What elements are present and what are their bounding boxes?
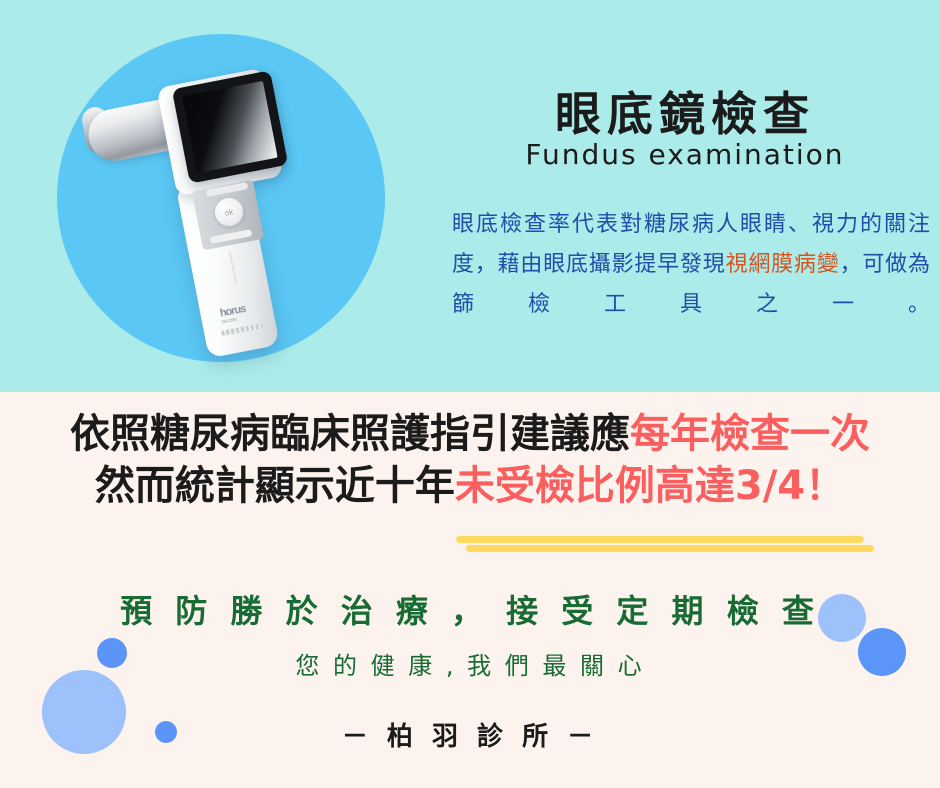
statement-zone: 依照糖尿病臨床照護指引建議應每年檢查一次 然而統計顯示近十年未受檢比例高達3/4… [0, 408, 940, 512]
highlight-underline-lower [466, 545, 874, 552]
page-title-chinese: 眼底鏡檢查 [430, 78, 940, 144]
slogan-zone: 預 防 勝 於 治 療 ， 接 受 定 期 檢 查 您 的 健 康 , 我 們 … [0, 586, 940, 681]
poster-root: ok horus DEC200 眼底鏡檢查 Fundus examination… [0, 0, 940, 788]
slogan-secondary: 您 的 健 康 , 我 們 最 關 心 [0, 646, 940, 681]
fundus-camera-device: ok horus DEC200 [80, 55, 370, 355]
statement-line-1: 依照糖尿病臨床照護指引建議應每年檢查一次 [0, 408, 940, 460]
device-photo-zone: ok horus DEC200 [0, 0, 440, 392]
description-highlight: 視網膜病變 [726, 252, 840, 277]
device-ok-button-label: ok [211, 194, 246, 229]
slogan-primary: 預 防 勝 於 治 療 ， 接 受 定 期 檢 查 [0, 586, 940, 632]
statement-line1-emphasis: 每年檢查一次 [630, 411, 870, 457]
highlight-underline-upper [456, 536, 864, 543]
clinic-name: － 柏 羽 診 所 － [0, 716, 940, 753]
statement-line-2: 然而統計顯示近十年未受檢比例高達3/4！ [0, 460, 940, 512]
device-ok-button: ok [211, 194, 246, 229]
header-zone: 眼底鏡檢查 Fundus examination 眼底檢查率代表對糖尿病人眼睛、… [430, 0, 940, 392]
page-title-english: Fundus examination [430, 138, 940, 171]
description-paragraph: 眼底檢查率代表對糖尿病人眼睛、視力的關注度，藉由眼底攝影提早發現視網膜病變，可做… [452, 205, 930, 325]
statement-line2-emphasis: 未受檢比例高達3/4！ [455, 463, 845, 509]
device-screen-bezel [172, 70, 288, 183]
statement-line1-plain: 依照糖尿病臨床照護指引建議應 [70, 411, 630, 457]
device-screen-display [182, 81, 277, 173]
statement-line2-plain: 然而統計顯示近十年 [95, 463, 455, 509]
